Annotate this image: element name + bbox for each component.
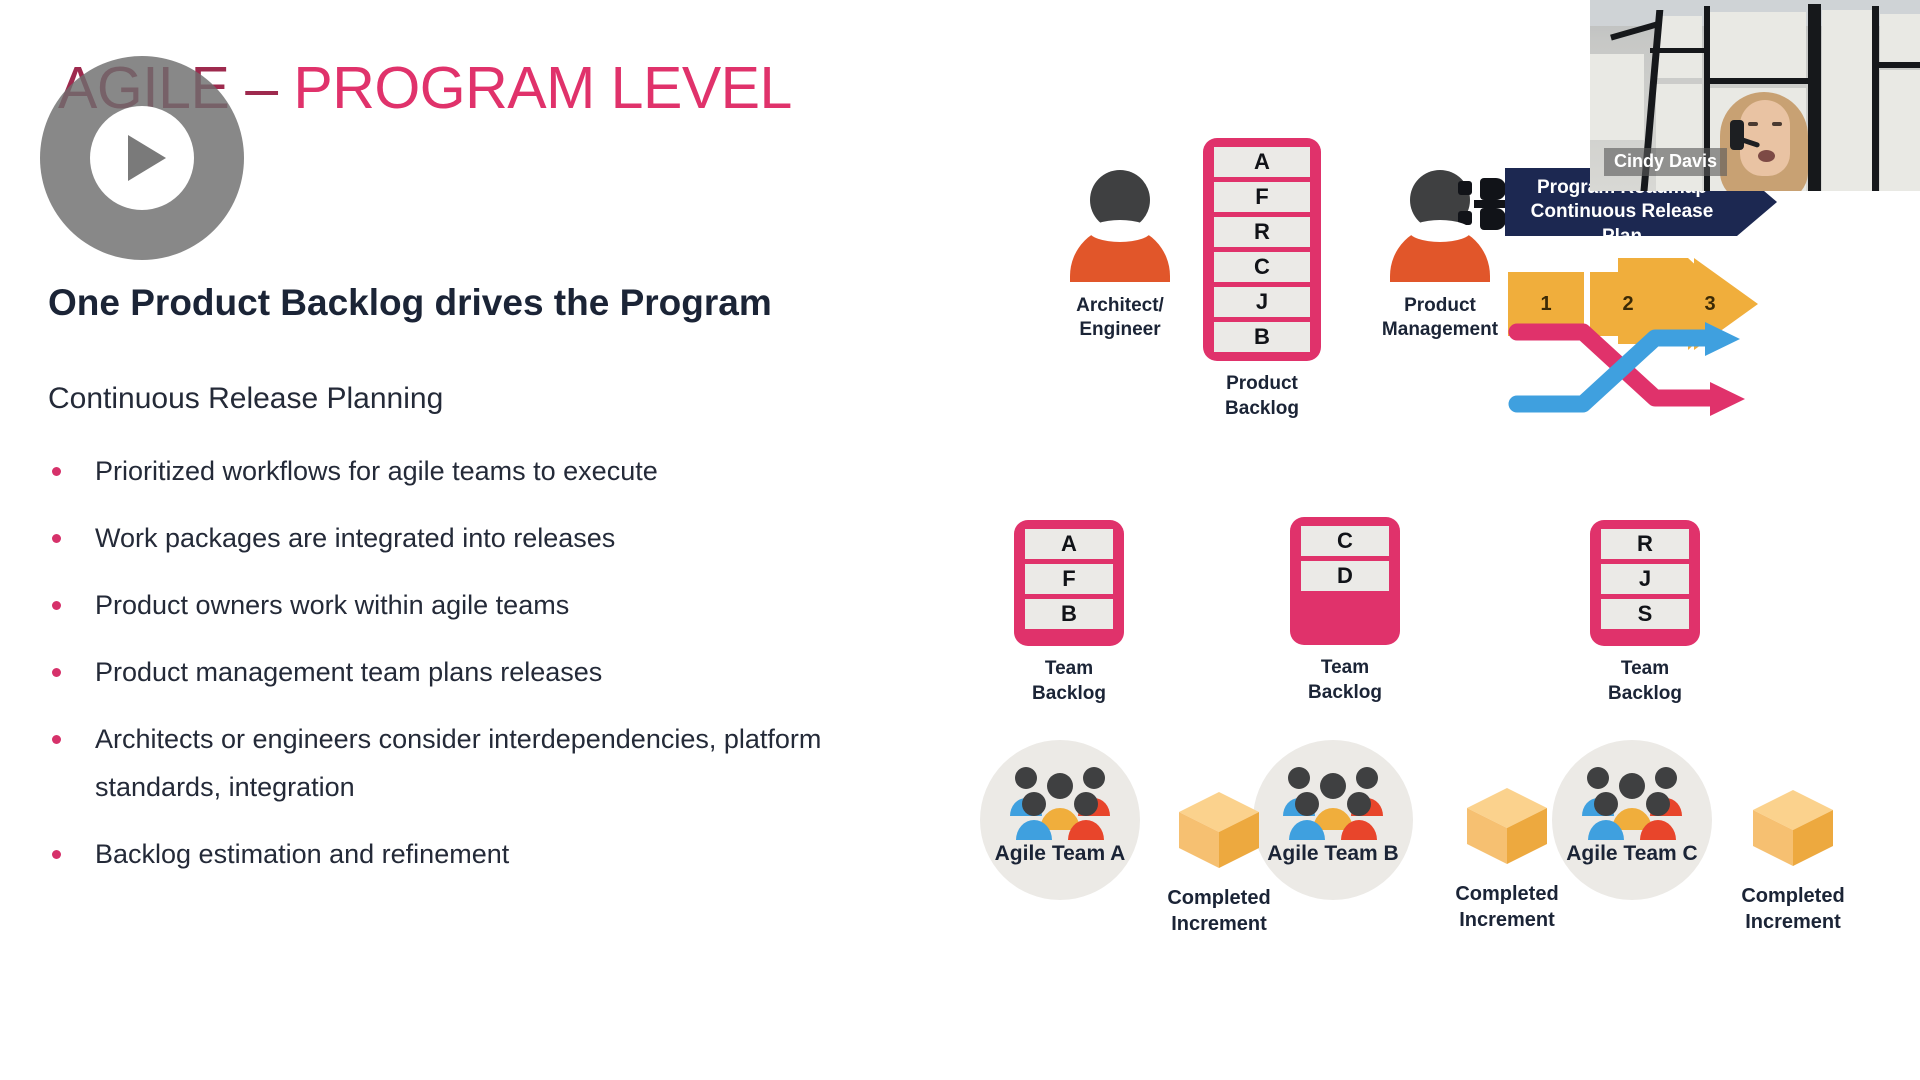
team-backlog-label: Team Backlog — [1014, 657, 1124, 706]
backlog-item: J — [1601, 564, 1689, 594]
completed-increment-label: Completed Increment — [1718, 883, 1868, 935]
play-button-ring — [90, 106, 194, 210]
partition-pane — [1710, 12, 1806, 82]
presentation-slide: AGILE – PROGRAM LEVEL One Product Backlo… — [0, 0, 1920, 1080]
team-backlog-label: Team Backlog — [1290, 656, 1400, 705]
crossing-release-arrows — [1505, 312, 1815, 422]
team-backlog-box: R J S — [1590, 520, 1700, 646]
box-icon — [1751, 788, 1835, 868]
partition-frame — [1876, 62, 1920, 68]
backlog-item: B — [1025, 599, 1113, 629]
product-backlog-label: Product Backlog — [1203, 372, 1321, 421]
partition-pane — [1590, 54, 1644, 140]
team-backlog-stack-b: C D Team Backlog — [1290, 517, 1400, 705]
completed-increment-label: Completed Increment — [1432, 881, 1582, 933]
architect-engineer-label: Architect/ Engineer — [1040, 294, 1200, 342]
partition-frame — [1808, 4, 1821, 191]
participant-name-label: Cindy Davis — [1604, 148, 1727, 176]
completed-increment-a: Completed Increment — [1144, 790, 1294, 937]
completed-increment-label: Completed Increment — [1144, 885, 1294, 937]
backlog-item: R — [1601, 529, 1689, 559]
partition-frame — [1872, 6, 1879, 191]
partition-pane — [1880, 14, 1920, 64]
backlog-item: B — [1214, 322, 1310, 352]
webcam-person-mouth — [1758, 150, 1775, 162]
backlog-item: A — [1214, 147, 1310, 177]
team-backlog-label: Team Backlog — [1590, 657, 1700, 706]
person-icon — [1066, 170, 1174, 282]
team-backlog-stack-a: A F B Team Backlog — [1014, 520, 1124, 706]
backlog-item: S — [1601, 599, 1689, 629]
team-people-icon — [1576, 764, 1688, 840]
team-backlog-box: C D — [1290, 517, 1400, 645]
team-people-icon — [1004, 764, 1116, 840]
box-icon — [1177, 790, 1261, 870]
headset-icon — [1730, 120, 1744, 150]
product-backlog-box: A F R C J B — [1203, 138, 1321, 361]
backlog-item: R — [1214, 217, 1310, 247]
play-button[interactable] — [40, 56, 244, 260]
completed-increment-c: Completed Increment — [1718, 788, 1868, 935]
backlog-item: C — [1301, 526, 1389, 556]
play-triangle-icon — [128, 135, 166, 181]
backlog-item: D — [1301, 561, 1389, 591]
box-icon — [1465, 786, 1549, 866]
roadmap-banner-line2: Continuous Release Plan — [1513, 200, 1731, 249]
webcam-person-eye — [1772, 122, 1782, 126]
person-neck-shape — [1089, 220, 1151, 242]
partition-frame — [1650, 48, 1708, 53]
team-backlog-box: A F B — [1014, 520, 1124, 646]
completed-increment-b: Completed Increment — [1432, 786, 1582, 933]
backlog-item: F — [1025, 564, 1113, 594]
partition-pane — [1822, 10, 1872, 191]
partition-pane — [1880, 70, 1920, 191]
webcam-person-eye — [1748, 122, 1758, 126]
partition-pane — [1656, 16, 1702, 78]
product-backlog-stack: A F R C J B Product Backlog — [1203, 138, 1321, 421]
person-neck-shape — [1409, 220, 1471, 242]
agile-team-label: Agile Team A — [964, 842, 1156, 866]
architect-engineer-figure: Architect/ Engineer — [1040, 170, 1200, 342]
team-backlog-stack-c: R J S Team Backlog — [1590, 520, 1700, 706]
backlog-item: F — [1214, 182, 1310, 212]
backlog-item: A — [1025, 529, 1113, 559]
backlog-item: J — [1214, 287, 1310, 317]
partition-frame — [1708, 78, 1810, 84]
webcam-person-face — [1740, 100, 1790, 176]
product-management-label: Product Management — [1355, 294, 1525, 342]
backlog-item: C — [1214, 252, 1310, 282]
